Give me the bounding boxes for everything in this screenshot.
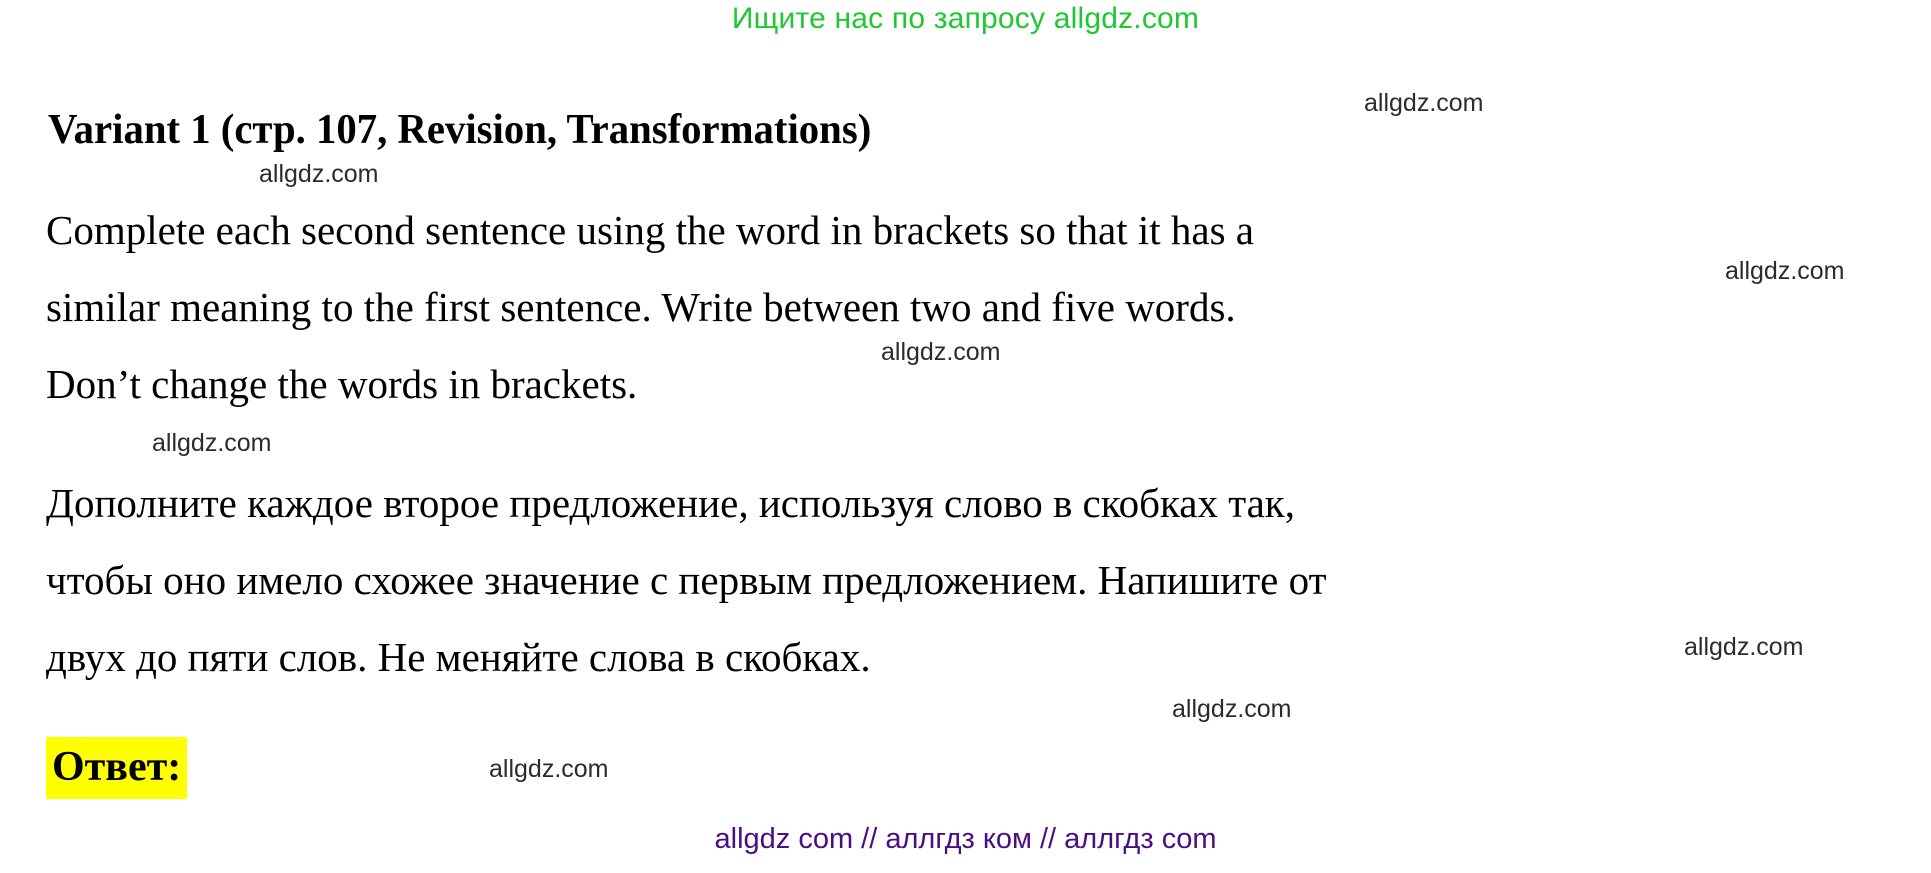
paragraph-line: чтобы оно имело схожее значение с первым… [46,542,1926,619]
watermark-text: allgdz.com [1364,88,1484,118]
document-page: Ищите нас по запросу allgdz.com Variant … [0,0,1931,873]
paragraph-line: similar meaning to the first sentence. W… [46,269,1906,346]
answer-label: Ответ: [46,737,187,799]
page-title: Variant 1 (стр. 107, Revision, Transform… [48,106,871,154]
watermark-text: allgdz.com [259,159,379,189]
promo-banner-text: Ищите нас по запросу allgdz.com [0,0,1931,38]
paragraph-line: двух до пяти слов. Не меняйте слова в ск… [46,619,1926,696]
instruction-paragraph-russian: Дополните каждое второе предложение, исп… [46,465,1926,696]
instruction-paragraph-english: Complete each second sentence using the … [46,192,1906,423]
answer-section: Ответ: [46,737,187,799]
footer-branding-text: allgdz com // аллгдз ком // аллгдз com [0,820,1931,858]
watermark-text: allgdz.com [489,754,609,784]
watermark-text: allgdz.com [1172,694,1292,724]
watermark-text: allgdz.com [881,337,1001,367]
watermark-text: allgdz.com [1725,256,1845,286]
paragraph-line: Complete each second sentence using the … [46,192,1906,269]
watermark-text: allgdz.com [1684,632,1804,662]
watermark-text: allgdz.com [152,428,272,458]
paragraph-line: Дополните каждое второе предложение, исп… [46,465,1926,542]
